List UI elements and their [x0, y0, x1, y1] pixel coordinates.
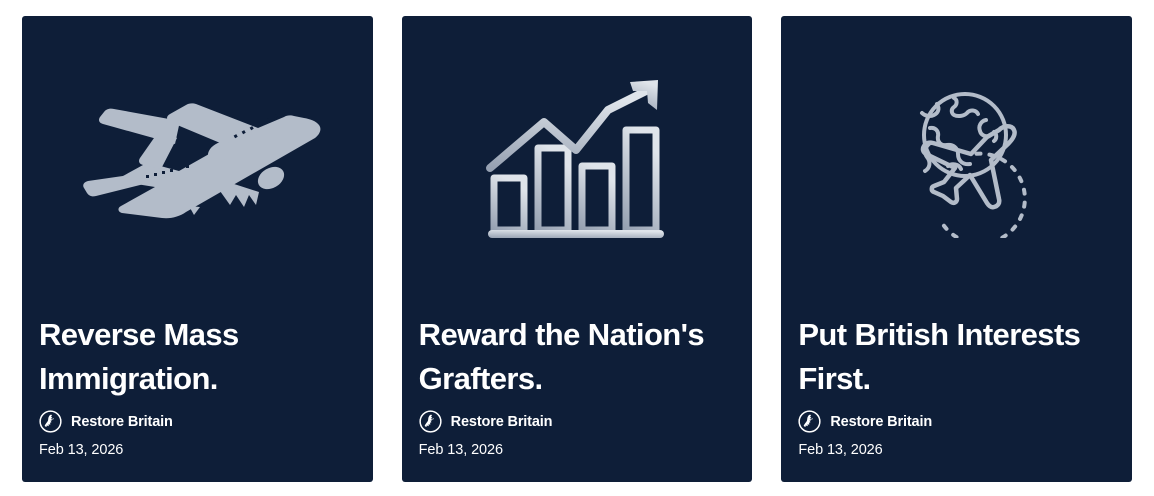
- card-body: Put British Interests First. Restore Bri…: [798, 313, 1115, 458]
- card-icon-container: [39, 16, 356, 313]
- card-date: Feb 13, 2026: [419, 442, 736, 458]
- card-brand-row[interactable]: Restore Britain: [798, 410, 1115, 433]
- card-title: Reward the Nation's Grafters.: [419, 313, 736, 402]
- uk-map-circle-logo-icon: [798, 410, 821, 433]
- uk-map-circle-logo-icon: [39, 410, 62, 433]
- airplane-silhouette-icon: [68, 95, 326, 230]
- card-reward-the-nations-grafters[interactable]: Reward the Nation's Grafters. Restore Br…: [402, 16, 753, 482]
- card-title: Reverse Mass Immigration.: [39, 313, 356, 402]
- card-brand-row[interactable]: Restore Britain: [39, 410, 356, 433]
- uk-map-circle-logo-icon: [419, 410, 442, 433]
- brand-name: Restore Britain: [830, 414, 932, 430]
- globe-airplane-icon: [882, 86, 1032, 238]
- brand-name: Restore Britain: [451, 414, 553, 430]
- growth-bar-chart-icon: [482, 78, 672, 246]
- brand-name: Restore Britain: [71, 414, 173, 430]
- card-body: Reverse Mass Immigration. Restore Britai…: [39, 313, 356, 458]
- card-body: Reward the Nation's Grafters. Restore Br…: [419, 313, 736, 458]
- card-title: Put British Interests First.: [798, 313, 1115, 402]
- card-icon-container: [798, 16, 1115, 313]
- card-put-british-interests-first[interactable]: Put British Interests First. Restore Bri…: [781, 16, 1132, 482]
- card-brand-row[interactable]: Restore Britain: [419, 410, 736, 433]
- card-reverse-mass-immigration[interactable]: Reverse Mass Immigration. Restore Britai…: [22, 16, 373, 482]
- card-date: Feb 13, 2026: [39, 442, 356, 458]
- card-grid: Reverse Mass Immigration. Restore Britai…: [22, 16, 1132, 482]
- card-icon-container: [419, 16, 736, 313]
- card-date: Feb 13, 2026: [798, 442, 1115, 458]
